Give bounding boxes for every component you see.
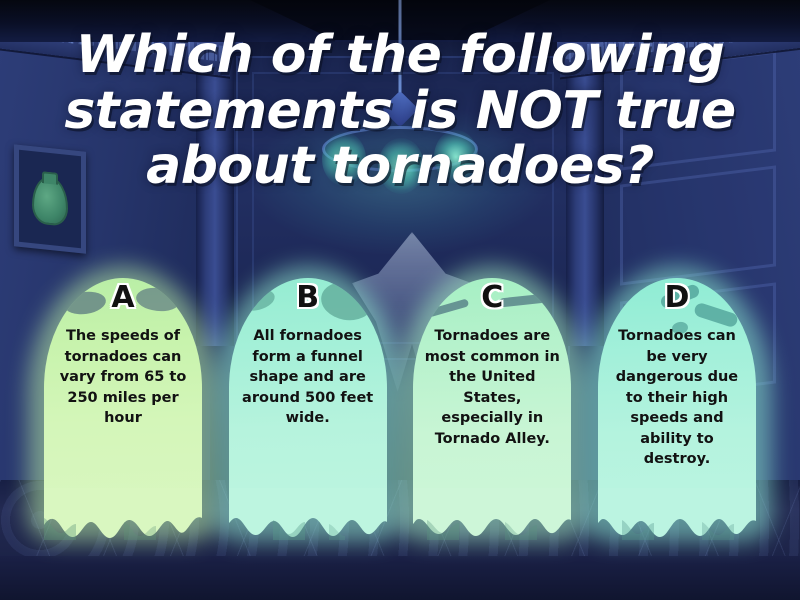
answer-letter-a: A: [44, 280, 202, 315]
answer-letter-b: B: [229, 280, 387, 315]
answer-text-c: Tornadoes are most common in the United …: [423, 326, 561, 449]
answer-text-a: The speeds of tornadoes can vary from 65…: [54, 326, 192, 429]
answer-letter-d: D: [598, 280, 756, 315]
question-line-1: Which of the following: [14, 28, 786, 84]
question-title: Which of the following statements is NOT…: [0, 28, 800, 195]
answer-option-b[interactable]: B All fornadoes form a funnel shape and …: [229, 278, 387, 540]
answer-option-c[interactable]: C Tornadoes are most common in the Unite…: [413, 278, 571, 540]
ghost-feet: [44, 488, 202, 540]
question-line-3: about tornadoes?: [14, 139, 786, 195]
answer-letter-c: C: [413, 280, 571, 315]
quiz-slide: Which of the following statements is NOT…: [0, 0, 800, 600]
answer-text-b: All fornadoes form a funnel shape and ar…: [239, 326, 377, 429]
answer-option-a[interactable]: A The speeds of tornadoes can vary from …: [44, 278, 202, 540]
question-line-2: statements is NOT true: [14, 84, 786, 140]
answer-option-d[interactable]: D Tornadoes can be very dangerous due to…: [598, 278, 756, 540]
ghost-feet: [413, 488, 571, 540]
answer-options: A The speeds of tornadoes can vary from …: [0, 278, 800, 578]
answer-text-d: Tornadoes can be very dangerous due to t…: [608, 326, 746, 470]
ghost-feet: [598, 488, 756, 540]
ghost-feet: [229, 488, 387, 540]
